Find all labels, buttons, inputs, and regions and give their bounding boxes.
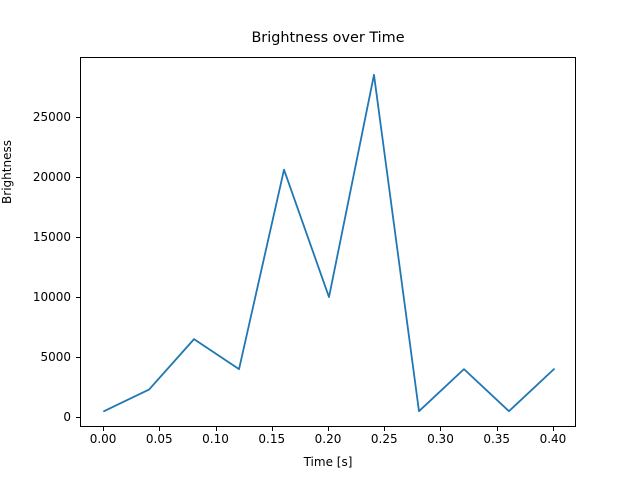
y-tick-label: 5000 bbox=[40, 351, 71, 363]
x-tick-label: 0.35 bbox=[467, 433, 527, 445]
x-axis-label: Time [s] bbox=[80, 455, 576, 469]
y-tick-label: 20000 bbox=[33, 171, 71, 183]
y-tick-label: 15000 bbox=[33, 231, 71, 243]
x-tick-label: 0.25 bbox=[354, 433, 414, 445]
x-tick-label: 0.05 bbox=[129, 433, 189, 445]
x-tick-label: 0.40 bbox=[523, 433, 583, 445]
x-tick-label: 0.00 bbox=[73, 433, 133, 445]
plot-svg bbox=[81, 58, 577, 428]
y-axis-tick-labels: 0500010000150002000025000 bbox=[0, 0, 71, 480]
plot-area bbox=[80, 57, 576, 427]
y-tick-label: 25000 bbox=[33, 111, 71, 123]
line-series-brightness bbox=[104, 75, 554, 411]
x-tick-label: 0.20 bbox=[298, 433, 358, 445]
chart-title: Brightness over Time bbox=[80, 30, 576, 47]
y-tick-label: 0 bbox=[63, 411, 71, 423]
x-tick-label: 0.30 bbox=[410, 433, 470, 445]
x-tick-label: 0.15 bbox=[242, 433, 302, 445]
y-tick-label: 10000 bbox=[33, 291, 71, 303]
x-tick-label: 0.10 bbox=[186, 433, 246, 445]
figure-canvas: Brightness over Time Brightness 05000100… bbox=[0, 0, 640, 480]
